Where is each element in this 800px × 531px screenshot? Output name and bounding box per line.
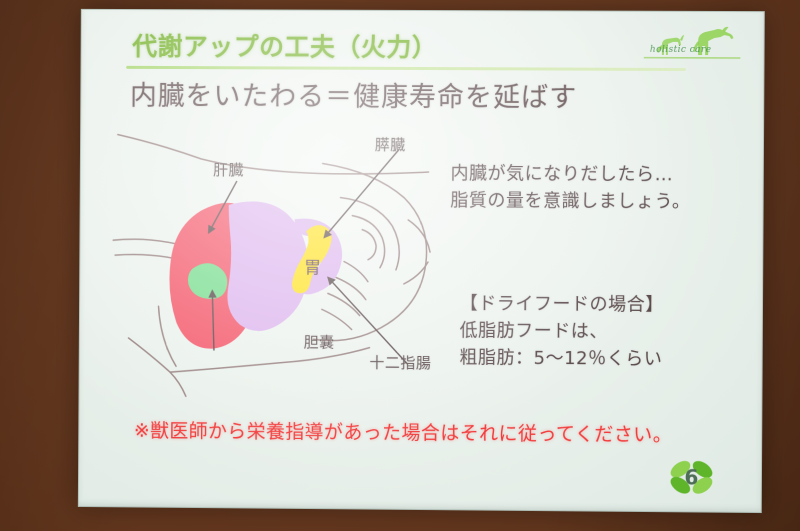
abdominal-organs-diagram: 肝臓 膵臓 胃 胆嚢 十二指腸 xyxy=(108,101,469,403)
right-text-bottom-line-3: 粗脂肪：5〜12％くらい xyxy=(459,344,663,373)
label-duodenum: 十二指腸 xyxy=(369,352,431,373)
right-text-top: 内臓が気になりだしたら… 脂質の量を意識しましょう。 xyxy=(450,160,691,215)
right-text-bottom-line-1: 【ドライフードの場合】 xyxy=(460,290,664,318)
label-pancreas: 膵臓 xyxy=(375,134,406,155)
page-number: 6 xyxy=(665,456,718,499)
logo-text: holistic care xyxy=(650,45,712,55)
right-text-top-line-1: 内臓が気になりだしたら… xyxy=(450,160,690,188)
holistic-care-logo: holistic care xyxy=(636,21,747,68)
label-gallbladder: 胆嚢 xyxy=(304,331,335,352)
slide-canvas: 代謝アップの工夫（火力） holistic care 内臓をいたわる＝健康寿命を… xyxy=(78,9,765,513)
right-text-bottom-line-2: 低脂肪フードは、 xyxy=(459,317,663,345)
title-underline-rule xyxy=(126,66,686,71)
label-liver: 肝臓 xyxy=(213,159,244,180)
right-text-bottom: 【ドライフードの場合】 低脂肪フードは、 粗脂肪：5〜12％くらい xyxy=(459,290,664,373)
slide-title: 代謝アップの工夫（火力） xyxy=(132,27,437,64)
projected-slide: 代謝アップの工夫（火力） holistic care 内臓をいたわる＝健康寿命を… xyxy=(78,9,765,513)
right-text-top-line-2: 脂質の量を意識しましょう。 xyxy=(450,187,690,215)
clover-page-logo: 6 xyxy=(665,456,718,499)
label-stomach: 胃 xyxy=(304,253,322,278)
veterinarian-note: ※獣医師から栄養指導があった場合はそれに従ってください。 xyxy=(134,416,672,447)
